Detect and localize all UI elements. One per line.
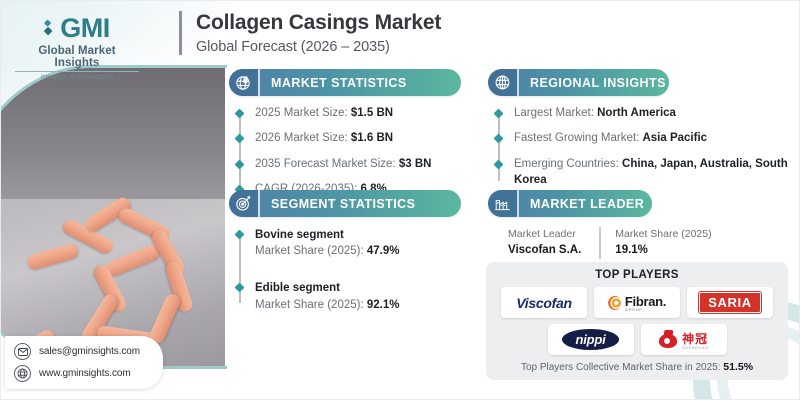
market-leader-value: Viscofan S.A.	[508, 242, 581, 259]
market-leader-section: MARKET LEADER Market Leader Viscofan S.A…	[488, 190, 788, 259]
player-logo-saria[interactable]: SARIA	[687, 287, 773, 318]
stat-label: 2026 Market Size:	[255, 132, 348, 144]
hero-photo	[0, 67, 225, 367]
contact-card: sales@gminsights.com www.gminsights.com	[5, 336, 163, 389]
market-leader-header: MARKET LEADER	[488, 190, 652, 217]
shenguan-mark-icon	[658, 330, 678, 349]
segment-name: Edible segment	[255, 280, 461, 296]
player-logo-text: SARIA	[699, 292, 760, 313]
top-players-footer-label: Top Players Collective Market Share in 2…	[521, 362, 721, 373]
region-value: North America	[597, 107, 676, 119]
region-value: Asia Pacific	[642, 132, 707, 144]
segment-share-value: 47.9%	[367, 245, 400, 257]
title-block: Collagen Casings Market Global Forecast …	[179, 11, 441, 55]
gmi-tagline: Insights to Innovation	[15, 74, 139, 81]
region-label: Emerging Countries:	[514, 158, 619, 170]
market-leader-share-cell: Market Share (2025) 19.1%	[599, 227, 729, 259]
player-logo-fibran[interactable]: Fibran.GROUP	[594, 287, 680, 318]
region-label: Fastest Growing Market:	[514, 132, 639, 144]
globe-icon	[14, 365, 31, 382]
list-item: Bovine segment Market Share (2025): 47.9…	[255, 227, 461, 259]
gmi-logo[interactable]: GMI Global Market Insights Insights to I…	[15, 13, 139, 81]
player-logo-nippi[interactable]: nippi	[548, 324, 634, 355]
player-logo-sub: SHENGUAN	[682, 346, 709, 350]
stat-value: $1.6 BN	[351, 132, 393, 144]
market-leader-body: Market Leader Viscofan S.A. Market Share…	[488, 227, 788, 259]
list-item: Largest Market: North America	[514, 105, 788, 121]
gmi-company-name: Global Market Insights	[15, 45, 139, 72]
top-players-footer: Top Players Collective Market Share in 2…	[496, 361, 778, 373]
market-leader-share-key: Market Share (2025)	[615, 227, 711, 242]
regional-insights-header: REGIONAL INSIGHTS	[488, 69, 669, 96]
stat-label: 2025 Market Size:	[255, 107, 348, 119]
stat-value: $3 BN	[399, 158, 432, 170]
photo-back-wall	[0, 67, 225, 205]
player-logo-text: 神冠	[682, 332, 708, 346]
sausage-production-photo	[0, 67, 225, 367]
market-statistics-label: MARKET STATISTICS	[260, 76, 423, 90]
segment-share-label: Market Share (2025):	[255, 299, 364, 311]
envelope-icon	[14, 343, 31, 360]
segment-statistics-list: Bovine segment Market Share (2025): 47.9…	[229, 227, 461, 313]
region-label: Largest Market:	[514, 107, 594, 119]
list-item: Fastest Growing Market: Asia Pacific	[514, 130, 788, 146]
list-item: 2025 Market Size: $1.5 BN	[255, 105, 461, 121]
segment-statistics-section: SEGMENT STATISTICS Bovine segment Market…	[229, 190, 461, 313]
fibran-swirl-icon	[608, 296, 622, 310]
market-statistics-section: MARKET STATISTICS 2025 Market Size: $1.5…	[229, 69, 461, 197]
market-leader-share-value: 19.1%	[615, 242, 711, 259]
stat-label: 2035 Forecast Market Size:	[255, 158, 396, 170]
factory-icon	[488, 190, 519, 217]
top-players-title: TOP PLAYERS	[496, 269, 778, 281]
player-logo-text: nippi	[562, 329, 618, 350]
infographic-canvas: GMI Global Market Insights Insights to I…	[0, 0, 800, 400]
regional-insights-list: Largest Market: North America Fastest Gr…	[488, 105, 788, 188]
contact-website-row[interactable]: www.gminsights.com	[14, 365, 154, 382]
globe-chart-icon	[229, 69, 260, 96]
segment-statistics-header: SEGMENT STATISTICS	[229, 190, 461, 217]
segment-share-value: 92.1%	[367, 299, 400, 311]
segment-name: Bovine segment	[255, 227, 461, 243]
market-leader-name-cell: Market Leader Viscofan S.A.	[508, 227, 599, 259]
player-logo-text: Viscofan	[516, 295, 571, 311]
list-item: Emerging Countries: China, Japan, Austra…	[514, 156, 788, 189]
list-item: 2026 Market Size: $1.6 BN	[255, 130, 461, 146]
segment-statistics-label: SEGMENT STATISTICS	[260, 197, 431, 211]
contact-email: sales@gminsights.com	[39, 346, 140, 357]
globe-icon	[488, 69, 519, 96]
market-statistics-list: 2025 Market Size: $1.5 BN 2026 Market Si…	[229, 105, 461, 197]
regional-insights-section: REGIONAL INSIGHTS Largest Market: North …	[488, 69, 788, 188]
market-leader-label: MARKET LEADER	[519, 197, 652, 211]
target-dart-icon	[229, 190, 260, 217]
page-title: Collagen Casings Market	[196, 11, 441, 36]
market-statistics-header: MARKET STATISTICS	[229, 69, 461, 96]
header: GMI Global Market Insights Insights to I…	[1, 1, 799, 67]
list-item: 2035 Forecast Market Size: $3 BN	[255, 156, 461, 172]
market-leader-key: Market Leader	[508, 227, 581, 242]
contact-website: www.gminsights.com	[39, 368, 131, 379]
list-item: Edible segment Market Share (2025): 92.1…	[255, 280, 461, 312]
player-logo-shenguan[interactable]: 神冠SHENGUAN	[641, 324, 727, 355]
gmi-diamonds-icon	[44, 19, 57, 39]
regional-insights-label: REGIONAL INSIGHTS	[519, 76, 669, 90]
top-players-card: TOP PLAYERS Viscofan Fibran.GROUP SARIA …	[486, 262, 788, 380]
player-logo-viscofan[interactable]: Viscofan	[501, 287, 587, 318]
page-subtitle: Global Forecast (2026 – 2035)	[196, 39, 441, 55]
segment-share-label: Market Share (2025):	[255, 245, 364, 257]
gmi-acronym: GMI	[60, 13, 110, 44]
contact-email-row[interactable]: sales@gminsights.com	[14, 343, 154, 360]
top-players-row-1: Viscofan Fibran.GROUP SARIA	[496, 287, 778, 318]
top-players-row-2: nippi 神冠SHENGUAN	[496, 324, 778, 355]
stat-value: $1.5 BN	[351, 107, 393, 119]
top-players-footer-value: 51.5%	[723, 361, 753, 373]
